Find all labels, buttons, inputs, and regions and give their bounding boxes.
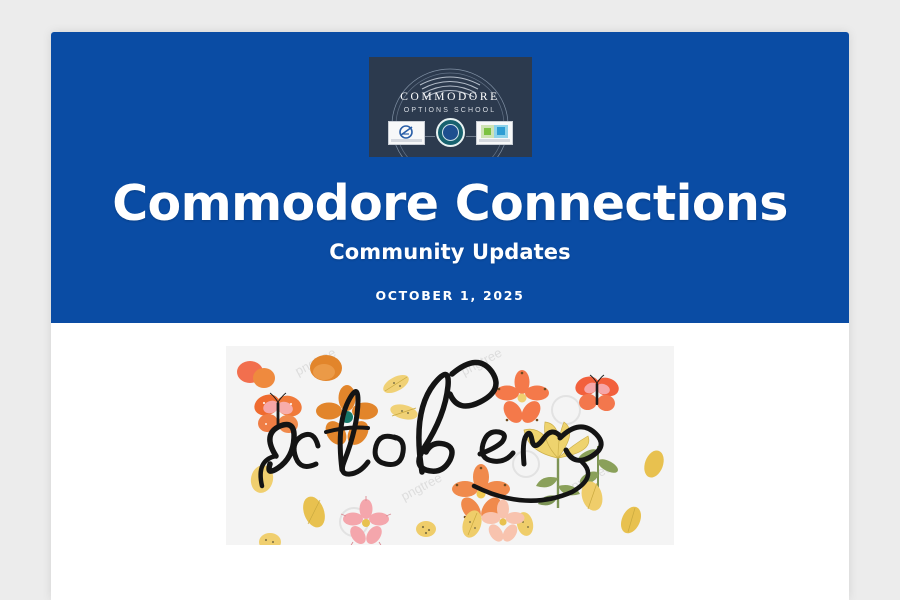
accreditation-badge-icon (388, 121, 425, 145)
commodore-options-school-logo: COMMODORE OPTIONS SCHOOL (369, 57, 532, 157)
district-tiles-icon (481, 125, 508, 138)
newsletter-header: COMMODORE OPTIONS SCHOOL (51, 32, 849, 323)
logo-wordmark: COMMODORE (369, 92, 532, 104)
swoosh-icon (396, 125, 416, 139)
newsletter-body: pngtree pngtree pngtree pngtree (51, 323, 849, 545)
logo-badge-row (369, 118, 532, 147)
october-lettering-banner: pngtree pngtree pngtree pngtree (226, 346, 674, 545)
october-banner-artwork: pngtree pngtree pngtree pngtree (226, 346, 674, 545)
page-subtitle: Community Updates (51, 242, 849, 263)
newsletter-card: COMMODORE OPTIONS SCHOOL (51, 32, 849, 600)
district-badge-icon (476, 121, 513, 145)
district-badge-caption (479, 139, 510, 142)
school-seal-badge-icon (436, 118, 465, 147)
logo-subwordmark: OPTIONS SCHOOL (369, 107, 532, 114)
page-background: COMMODORE OPTIONS SCHOOL (0, 0, 900, 600)
issue-date: OCTOBER 1, 2025 (51, 290, 849, 303)
school-seal-inner (442, 124, 459, 141)
page-title: Commodore Connections (51, 179, 849, 228)
accreditation-badge-caption (391, 139, 422, 142)
